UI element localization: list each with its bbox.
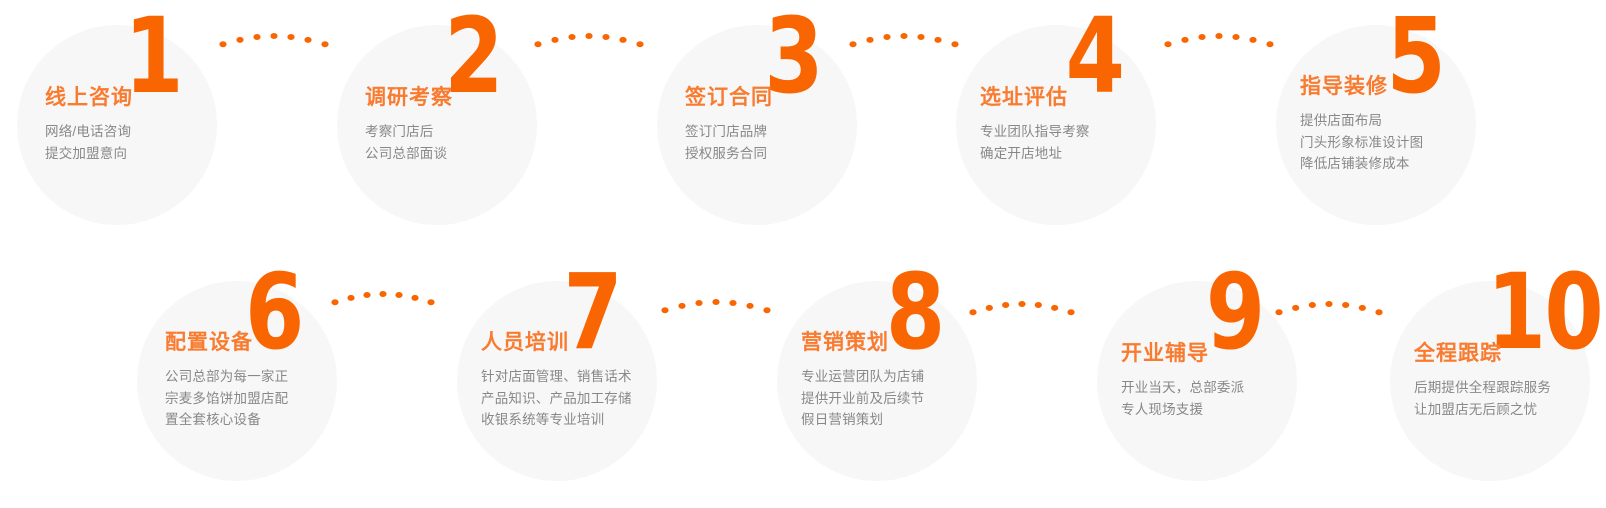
dotted-arc-icon <box>533 22 645 52</box>
step-8[interactable]: 8 营销策划 专业运营团队为店铺 提供开业前及后续节 假日营销策划 <box>777 281 977 481</box>
step-content: 营销策划 专业运营团队为店铺 提供开业前及后续节 假日营销策划 <box>777 281 1037 481</box>
connector-dot <box>321 41 328 47</box>
desc-line: 网络/电话咨询 <box>45 121 213 143</box>
connector-2-to-3 <box>533 22 645 52</box>
step-7[interactable]: 7 人员培训 针对店面管理、销售话术 产品知识、产品加工存储 收银系统等专业培训 <box>457 281 657 481</box>
connector-dot <box>934 37 941 43</box>
step-description: 考察门店后 公司总部面谈 <box>365 121 533 165</box>
desc-line: 降低店铺装修成本 <box>1300 153 1532 175</box>
desc-line: 提供开业前及后续节 <box>801 388 1033 410</box>
step-description: 专业运营团队为店铺 提供开业前及后续节 假日营销策划 <box>801 366 1033 432</box>
step-9[interactable]: 9 开业辅导 开业当天，总部委派 专人现场支援 <box>1097 281 1297 481</box>
connector-dot <box>585 33 592 39</box>
step-4[interactable]: 4 选址评估 专业团队指导考察 确定开店地址 <box>956 25 1156 225</box>
desc-line: 让加盟店无后顾之忧 <box>1414 399 1606 421</box>
connector-dot <box>363 292 370 298</box>
connector-dot <box>427 299 434 305</box>
dotted-arc-icon <box>218 22 330 52</box>
step-10[interactable]: 10 全程跟踪 后期提供全程跟踪服务 让加盟店无后顾之忧 <box>1390 281 1590 481</box>
franchise-process-flow: 1 线上咨询 网络/电话咨询 提交加盟意向 2 调研考察 考察门店后 公司总部面… <box>0 0 1606 508</box>
dotted-arc-icon <box>330 280 436 310</box>
connector-dot <box>1266 41 1273 47</box>
connector-dot <box>411 295 418 301</box>
step-1[interactable]: 1 线上咨询 网络/电话咨询 提交加盟意向 <box>17 25 217 225</box>
connector-dot <box>602 34 609 40</box>
dotted-arc-icon <box>848 22 960 52</box>
step-title: 配置设备 <box>165 331 333 354</box>
desc-line: 考察门店后 <box>365 121 533 143</box>
step-content: 签订合同 签订门店品牌 授权服务合同 <box>657 25 857 225</box>
step-description: 签订门店品牌 授权服务合同 <box>685 121 853 165</box>
connector-dot <box>866 37 873 43</box>
desc-line: 提供店面布局 <box>1300 110 1532 132</box>
connector-dot <box>219 41 226 47</box>
desc-line: 授权服务合同 <box>685 143 853 165</box>
step-2[interactable]: 2 调研考察 考察门店后 公司总部面谈 <box>337 25 537 225</box>
step-title: 签订合同 <box>685 86 853 109</box>
connector-dot <box>551 37 558 43</box>
connector-dot <box>619 37 626 43</box>
connector-dot <box>1215 33 1222 39</box>
step-content: 全程跟踪 后期提供全程跟踪服务 让加盟店无后顾之忧 <box>1390 281 1606 481</box>
desc-line: 确定开店地址 <box>980 143 1212 165</box>
desc-line: 产品知识、产品加工存储 <box>481 388 713 410</box>
step-5[interactable]: 5 指导装修 提供店面布局 门头形象标准设计图 降低店铺装修成本 <box>1276 25 1476 225</box>
step-description: 公司总部为每一家正 宗麦多馅饼加盟店配 置全套核心设备 <box>165 366 333 432</box>
connector-dot <box>1232 34 1239 40</box>
desc-line: 专业团队指导考察 <box>980 121 1212 143</box>
connector-dot <box>1051 305 1058 311</box>
connector-dot <box>1359 305 1366 311</box>
step-content: 开业辅导 开业当天，总部委派 专人现场支援 <box>1097 281 1357 481</box>
desc-line: 公司总部面谈 <box>365 143 533 165</box>
connector-dot <box>287 34 294 40</box>
step-6[interactable]: 6 配置设备 公司总部为每一家正 宗麦多馅饼加盟店配 置全套核心设备 <box>137 281 337 481</box>
step-description: 提供店面布局 门头形象标准设计图 降低店铺装修成本 <box>1300 110 1532 176</box>
desc-line: 门头形象标准设计图 <box>1300 132 1532 154</box>
connector-dot <box>253 34 260 40</box>
step-title: 开业辅导 <box>1121 342 1353 365</box>
connector-dot <box>1375 309 1382 315</box>
desc-line: 开业当天，总部委派 <box>1121 377 1353 399</box>
step-description: 后期提供全程跟踪服务 让加盟店无后顾之忧 <box>1414 377 1606 421</box>
step-3[interactable]: 3 签订合同 签订门店品牌 授权服务合同 <box>657 25 857 225</box>
step-content: 调研考察 考察门店后 公司总部面谈 <box>337 25 537 225</box>
connector-dot <box>568 34 575 40</box>
step-content: 选址评估 专业团队指导考察 确定开店地址 <box>956 25 1216 225</box>
desc-line: 专人现场支援 <box>1121 399 1353 421</box>
connector-dot <box>1067 309 1074 315</box>
connector-dot <box>729 300 736 306</box>
step-content: 配置设备 公司总部为每一家正 宗麦多馅饼加盟店配 置全套核心设备 <box>137 281 337 481</box>
step-content: 线上咨询 网络/电话咨询 提交加盟意向 <box>17 25 217 225</box>
connector-dot <box>270 33 277 39</box>
step-title: 调研考察 <box>365 86 533 109</box>
connector-dot <box>636 41 643 47</box>
desc-line: 提交加盟意向 <box>45 143 213 165</box>
connector-dot <box>1249 37 1256 43</box>
step-description: 开业当天，总部委派 专人现场支援 <box>1121 377 1353 421</box>
desc-line: 假日营销策划 <box>801 409 1033 431</box>
connector-6-to-7 <box>330 280 436 310</box>
desc-line: 专业运营团队为店铺 <box>801 366 1033 388</box>
desc-line: 签订门店品牌 <box>685 121 853 143</box>
step-title: 选址评估 <box>980 86 1212 109</box>
desc-line: 收银系统等专业培训 <box>481 409 713 431</box>
connector-dot <box>763 307 770 313</box>
step-title: 线上咨询 <box>45 86 213 109</box>
connector-1-to-2 <box>218 22 330 52</box>
step-content: 指导装修 提供店面布局 门头形象标准设计图 降低店铺装修成本 <box>1276 25 1536 225</box>
connector-dot <box>917 34 924 40</box>
connector-dot <box>900 33 907 39</box>
step-description: 专业团队指导考察 确定开店地址 <box>980 121 1212 165</box>
connector-dot <box>304 37 311 43</box>
step-description: 网络/电话咨询 提交加盟意向 <box>45 121 213 165</box>
connector-dot <box>883 34 890 40</box>
connector-dot <box>746 303 753 309</box>
connector-dot <box>347 295 354 301</box>
desc-line: 宗麦多馅饼加盟店配 <box>165 388 333 410</box>
step-title: 营销策划 <box>801 331 1033 354</box>
desc-line: 针对店面管理、销售话术 <box>481 366 713 388</box>
step-title: 全程跟踪 <box>1414 342 1606 365</box>
connector-dot <box>395 292 402 298</box>
connector-dot <box>236 37 243 43</box>
step-title: 指导装修 <box>1300 75 1532 98</box>
connector-3-to-4 <box>848 22 960 52</box>
step-content: 人员培训 针对店面管理、销售话术 产品知识、产品加工存储 收银系统等专业培训 <box>457 281 717 481</box>
step-description: 针对店面管理、销售话术 产品知识、产品加工存储 收银系统等专业培训 <box>481 366 713 432</box>
desc-line: 公司总部为每一家正 <box>165 366 333 388</box>
step-title: 人员培训 <box>481 331 713 354</box>
desc-line: 置全套核心设备 <box>165 409 333 431</box>
connector-dot <box>379 291 386 297</box>
desc-line: 后期提供全程跟踪服务 <box>1414 377 1606 399</box>
